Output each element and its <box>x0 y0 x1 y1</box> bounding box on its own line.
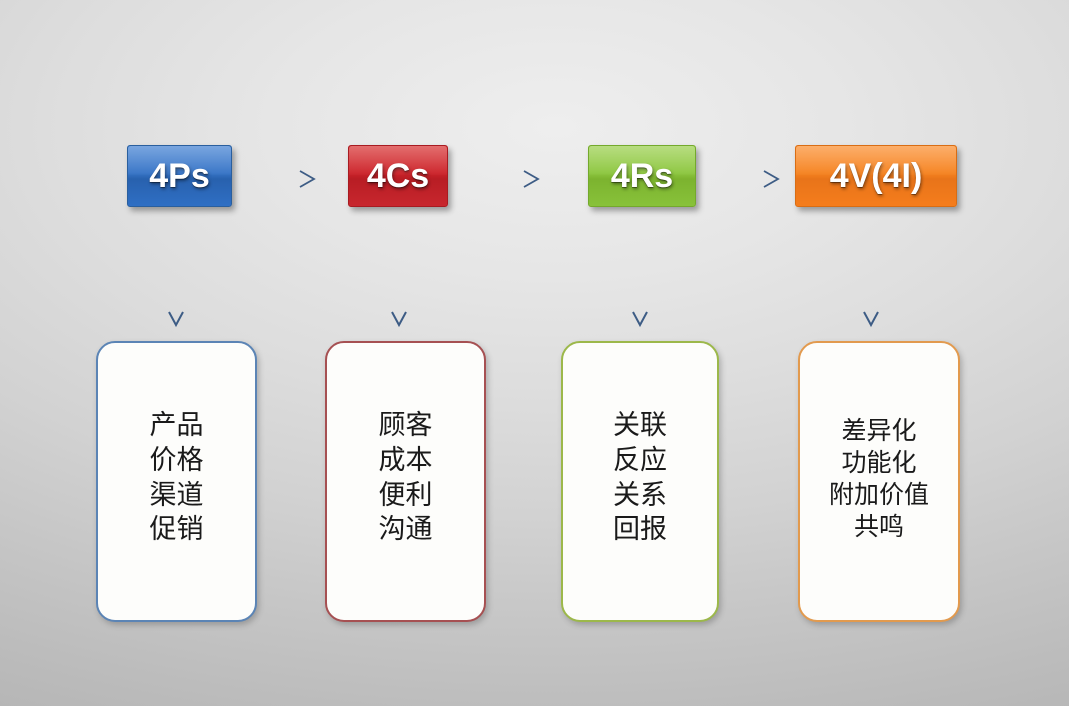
arrow-down-icon <box>860 212 882 330</box>
stage-chip-4cs[interactable]: 4Cs <box>348 145 448 207</box>
arrow-down-icon <box>629 212 651 330</box>
detail-card-4ps[interactable]: 产品 价格 渠道 促销 <box>96 341 257 622</box>
slide-canvas: 4Ps 4Cs 4Rs 4V(4I) <box>0 0 1069 706</box>
arrow-right-icon <box>248 165 320 193</box>
stage-chip-label: 4V(4I) <box>830 159 923 193</box>
stage-chip-4rs[interactable]: 4Rs <box>588 145 696 207</box>
arrow-right-icon <box>472 165 544 193</box>
stage-chip-4ps[interactable]: 4Ps <box>127 145 232 207</box>
arrow-down-icon <box>165 212 187 330</box>
detail-card-items: 关联 反应 关系 回报 <box>613 409 667 547</box>
arrow-down-icon <box>388 212 410 330</box>
stage-chip-label: 4Ps <box>149 159 210 193</box>
stage-chip-4v4i[interactable]: 4V(4I) <box>795 145 957 207</box>
stage-chip-label: 4Cs <box>367 159 429 193</box>
detail-card-4rs[interactable]: 关联 反应 关系 回报 <box>561 341 719 622</box>
detail-card-items: 顾客 成本 便利 沟通 <box>379 409 433 547</box>
detail-card-4cs[interactable]: 顾客 成本 便利 沟通 <box>325 341 486 622</box>
detail-card-4v4i[interactable]: 差异化 功能化 附加价值 共鸣 <box>798 341 960 622</box>
arrow-right-icon <box>712 165 784 193</box>
detail-card-items: 产品 价格 渠道 促销 <box>150 409 204 547</box>
detail-card-items: 差异化 功能化 附加价值 共鸣 <box>829 415 929 543</box>
stage-chip-label: 4Rs <box>611 159 673 193</box>
